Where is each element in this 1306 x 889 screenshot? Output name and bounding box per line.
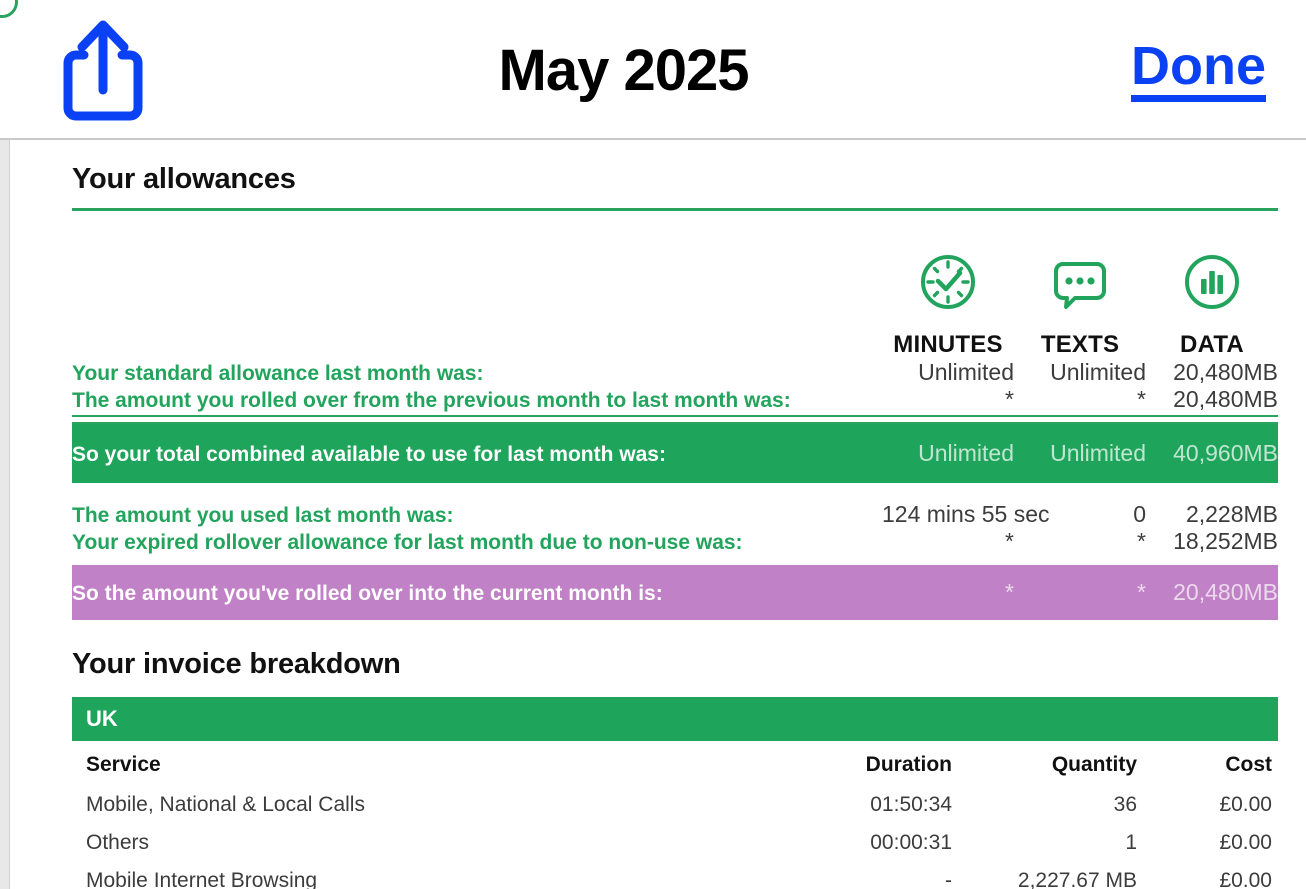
column-header-data: DATA: [1146, 319, 1278, 359]
bill-detail-screen: May 2025 Done Your allowances: [0, 0, 1306, 889]
green-corner-arc-decoration: [0, 0, 18, 18]
allowances-divider-row: [72, 413, 1278, 424]
invoice-cell-quantity: 2,227.67 MB: [958, 862, 1143, 889]
page-title: May 2025: [116, 37, 1131, 104]
allowance-value-minutes: *: [882, 565, 1014, 620]
allowance-value-data: 20,480MB: [1146, 386, 1278, 413]
allowance-value-minutes: *: [882, 528, 1014, 555]
invoice-region-banner: UK: [72, 697, 1278, 741]
green-double-rule: [72, 415, 1278, 424]
invoice-cell-service: Mobile Internet Browsing: [72, 862, 773, 889]
allowance-row-used: The amount you used last month was: 124 …: [72, 483, 1278, 528]
allowances-table: MINUTES TEXTS DATA Your standard allowan…: [72, 211, 1278, 620]
allowance-value-minutes: *: [882, 386, 1014, 413]
speech-bubble-icon: [1014, 211, 1146, 319]
allowances-header-spacer: [72, 319, 882, 359]
invoice-cell-cost: £0.00: [1143, 862, 1278, 889]
allowance-value-texts: *: [1014, 386, 1146, 413]
allowances-icon-row-spacer: [72, 211, 882, 319]
invoice-table: Service Duration Quantity Cost Mobile, N…: [72, 741, 1278, 889]
allowance-row-rolled-over-out: So the amount you've rolled over into th…: [72, 565, 1278, 620]
allowance-value-data: 40,960MB: [1146, 424, 1278, 483]
invoice-cell-service: Others: [72, 824, 773, 862]
allowance-value-data: 18,252MB: [1146, 528, 1278, 555]
column-header-texts: TEXTS: [1014, 319, 1146, 359]
invoice-header-service: Service: [72, 741, 773, 786]
allowance-value-minutes: Unlimited: [882, 359, 1014, 386]
invoice-header-quantity: Quantity: [958, 741, 1143, 786]
left-edge-gutter: [0, 140, 10, 889]
allowances-section-title: Your allowances: [72, 140, 1278, 196]
allowances-header-row: MINUTES TEXTS DATA: [72, 319, 1278, 359]
invoice-section-title: Your invoice breakdown: [72, 620, 1278, 697]
allowance-value-texts: Unlimited: [1014, 424, 1146, 483]
allowance-row-rolled-over-in: The amount you rolled over from the prev…: [72, 386, 1278, 413]
allowance-value-minutes: 124 mins 55 sec: [882, 483, 1014, 528]
navigation-bar: May 2025 Done: [0, 0, 1306, 140]
invoice-cell-cost: £0.00: [1143, 824, 1278, 862]
allowance-value-data: 20,480MB: [1146, 359, 1278, 386]
invoice-cell-quantity: 1: [958, 824, 1143, 862]
allowance-row-label: Your expired rollover allowance for last…: [72, 528, 882, 555]
scroll-content-area[interactable]: Your allowances: [0, 140, 1306, 889]
allowance-row-label: So your total combined available to use …: [72, 424, 882, 483]
allowances-spacer-row: [72, 555, 1278, 565]
table-row: Mobile Internet Browsing - 2,227.67 MB £…: [72, 862, 1278, 889]
done-button[interactable]: Done: [1131, 38, 1266, 103]
allowance-value-texts: Unlimited: [1014, 359, 1146, 386]
invoice-cell-quantity: 36: [958, 786, 1143, 824]
allowance-value-minutes: Unlimited: [882, 424, 1014, 483]
allowance-value-data: 20,480MB: [1146, 565, 1278, 620]
allowance-value-texts: *: [1014, 528, 1146, 555]
allowance-row-total-combined: So your total combined available to use …: [72, 424, 1278, 483]
bill-content: Your allowances: [10, 140, 1306, 889]
invoice-cell-duration: 01:50:34: [773, 786, 958, 824]
allowance-value-texts: *: [1014, 565, 1146, 620]
invoice-header-row: Service Duration Quantity Cost: [72, 741, 1278, 786]
allowance-row-label: So the amount you've rolled over into th…: [72, 565, 882, 620]
allowance-row-expired-rollover: Your expired rollover allowance for last…: [72, 528, 1278, 555]
allowance-row-label: Your standard allowance last month was:: [72, 359, 882, 386]
table-row: Others 00:00:31 1 £0.00: [72, 824, 1278, 862]
clock-icon: [882, 211, 1014, 319]
table-row: Mobile, National & Local Calls 01:50:34 …: [72, 786, 1278, 824]
column-header-minutes: MINUTES: [882, 319, 1014, 359]
invoice-cell-duration: -: [773, 862, 958, 889]
allowance-value-data: 2,228MB: [1146, 483, 1278, 528]
invoice-cell-duration: 00:00:31: [773, 824, 958, 862]
invoice-cell-service: Mobile, National & Local Calls: [72, 786, 773, 824]
allowance-row-label: The amount you used last month was:: [72, 483, 882, 528]
invoice-cell-cost: £0.00: [1143, 786, 1278, 824]
invoice-header-cost: Cost: [1143, 741, 1278, 786]
data-bars-icon: [1146, 211, 1278, 319]
invoice-header-duration: Duration: [773, 741, 958, 786]
allowances-icon-row: [72, 211, 1278, 319]
allowance-row-label: The amount you rolled over from the prev…: [72, 386, 882, 413]
allowance-row-standard: Your standard allowance last month was: …: [72, 359, 1278, 386]
